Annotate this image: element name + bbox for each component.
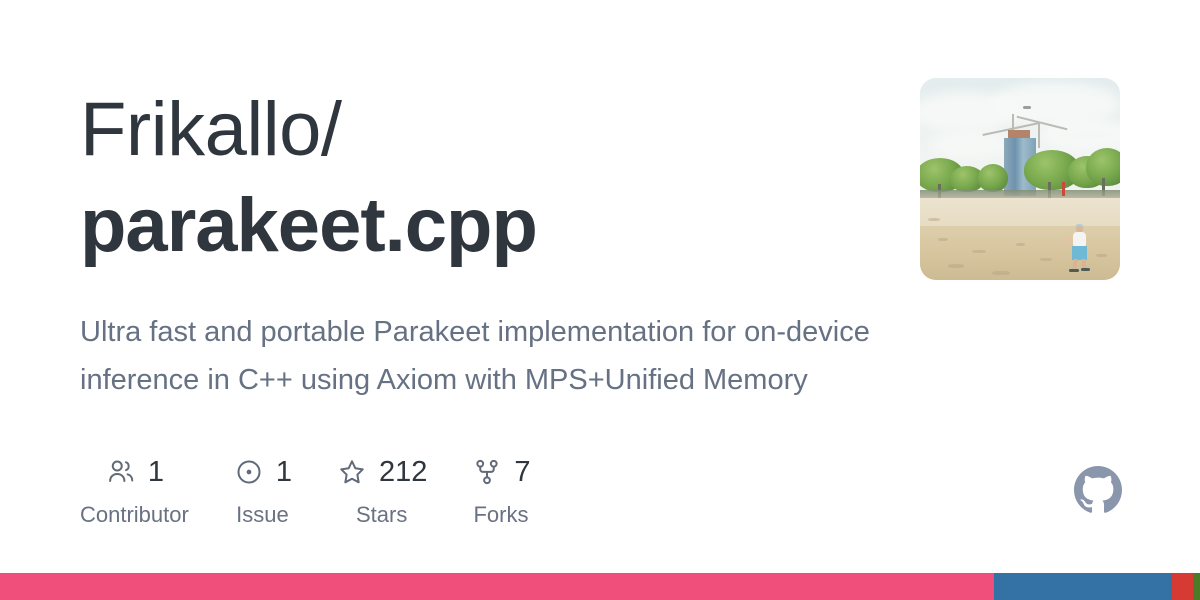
people-icon [105, 456, 137, 488]
language-segment-blue [994, 573, 1173, 600]
stat-stars-value: 212 [379, 456, 427, 488]
stat-issues-label: Issue [236, 502, 289, 528]
avatar-tree [978, 164, 1008, 192]
stat-stars[interactable]: 212 Stars [336, 452, 427, 528]
star-icon [336, 456, 368, 488]
language-segment-pink [0, 573, 994, 600]
avatar-sand-speck [938, 238, 948, 241]
stat-forks-label: Forks [473, 502, 528, 528]
avatar-sand-speck [972, 250, 986, 253]
avatar-crane-mast [1038, 122, 1040, 148]
avatar-flag [1062, 182, 1065, 196]
avatar-sand-speck [948, 264, 964, 268]
stat-forks[interactable]: 7 Forks [471, 452, 530, 528]
avatar-bird [1023, 106, 1031, 109]
repo-forked-icon [471, 456, 503, 488]
stat-contributors-label: Contributor [80, 502, 189, 528]
issue-opened-icon [233, 456, 265, 488]
stat-forks-value: 7 [514, 456, 530, 488]
stat-issues-value: 1 [276, 456, 292, 488]
stat-contributors[interactable]: 1 Contributor [80, 452, 189, 528]
repo-owner[interactable]: Frikallo/ [80, 82, 880, 178]
avatar [920, 78, 1120, 280]
stat-contributors-value: 1 [148, 456, 164, 488]
page-title: Frikallo/ parakeet.cpp [80, 82, 880, 274]
stat-forks-top: 7 [471, 452, 530, 492]
stat-stars-label: Stars [356, 502, 407, 528]
avatar-sand-near [920, 226, 1120, 280]
language-segment-red [1172, 573, 1192, 600]
stat-issues[interactable]: 1 Issue [233, 452, 292, 528]
avatar-person-shadow [1081, 268, 1090, 271]
language-segment-green [1193, 573, 1200, 600]
avatar-sand-speck [1040, 258, 1052, 261]
stat-contributors-top: 1 [105, 452, 164, 492]
avatar-sand-speck [1096, 254, 1107, 257]
avatar-person-shadow [1069, 269, 1079, 272]
avatar-sand-speck [928, 218, 940, 221]
avatar-sand-speck [992, 271, 1010, 275]
github-mark-icon [1074, 466, 1122, 514]
avatar-cloud [930, 130, 1010, 158]
avatar-sand-far [920, 198, 1120, 228]
avatar-sand-speck [1016, 243, 1025, 246]
language-bar [0, 573, 1200, 600]
repo-description: Ultra fast and portable Parakeet impleme… [80, 308, 870, 404]
stat-stars-top: 212 [336, 452, 427, 492]
repo-stats: 1 Contributor 1 Issue [80, 452, 575, 528]
repo-name[interactable]: parakeet.cpp [80, 178, 880, 274]
stat-issues-top: 1 [233, 452, 292, 492]
github-social-preview-card: Frikallo/ parakeet.cpp Ultra fast and po… [0, 0, 1200, 600]
